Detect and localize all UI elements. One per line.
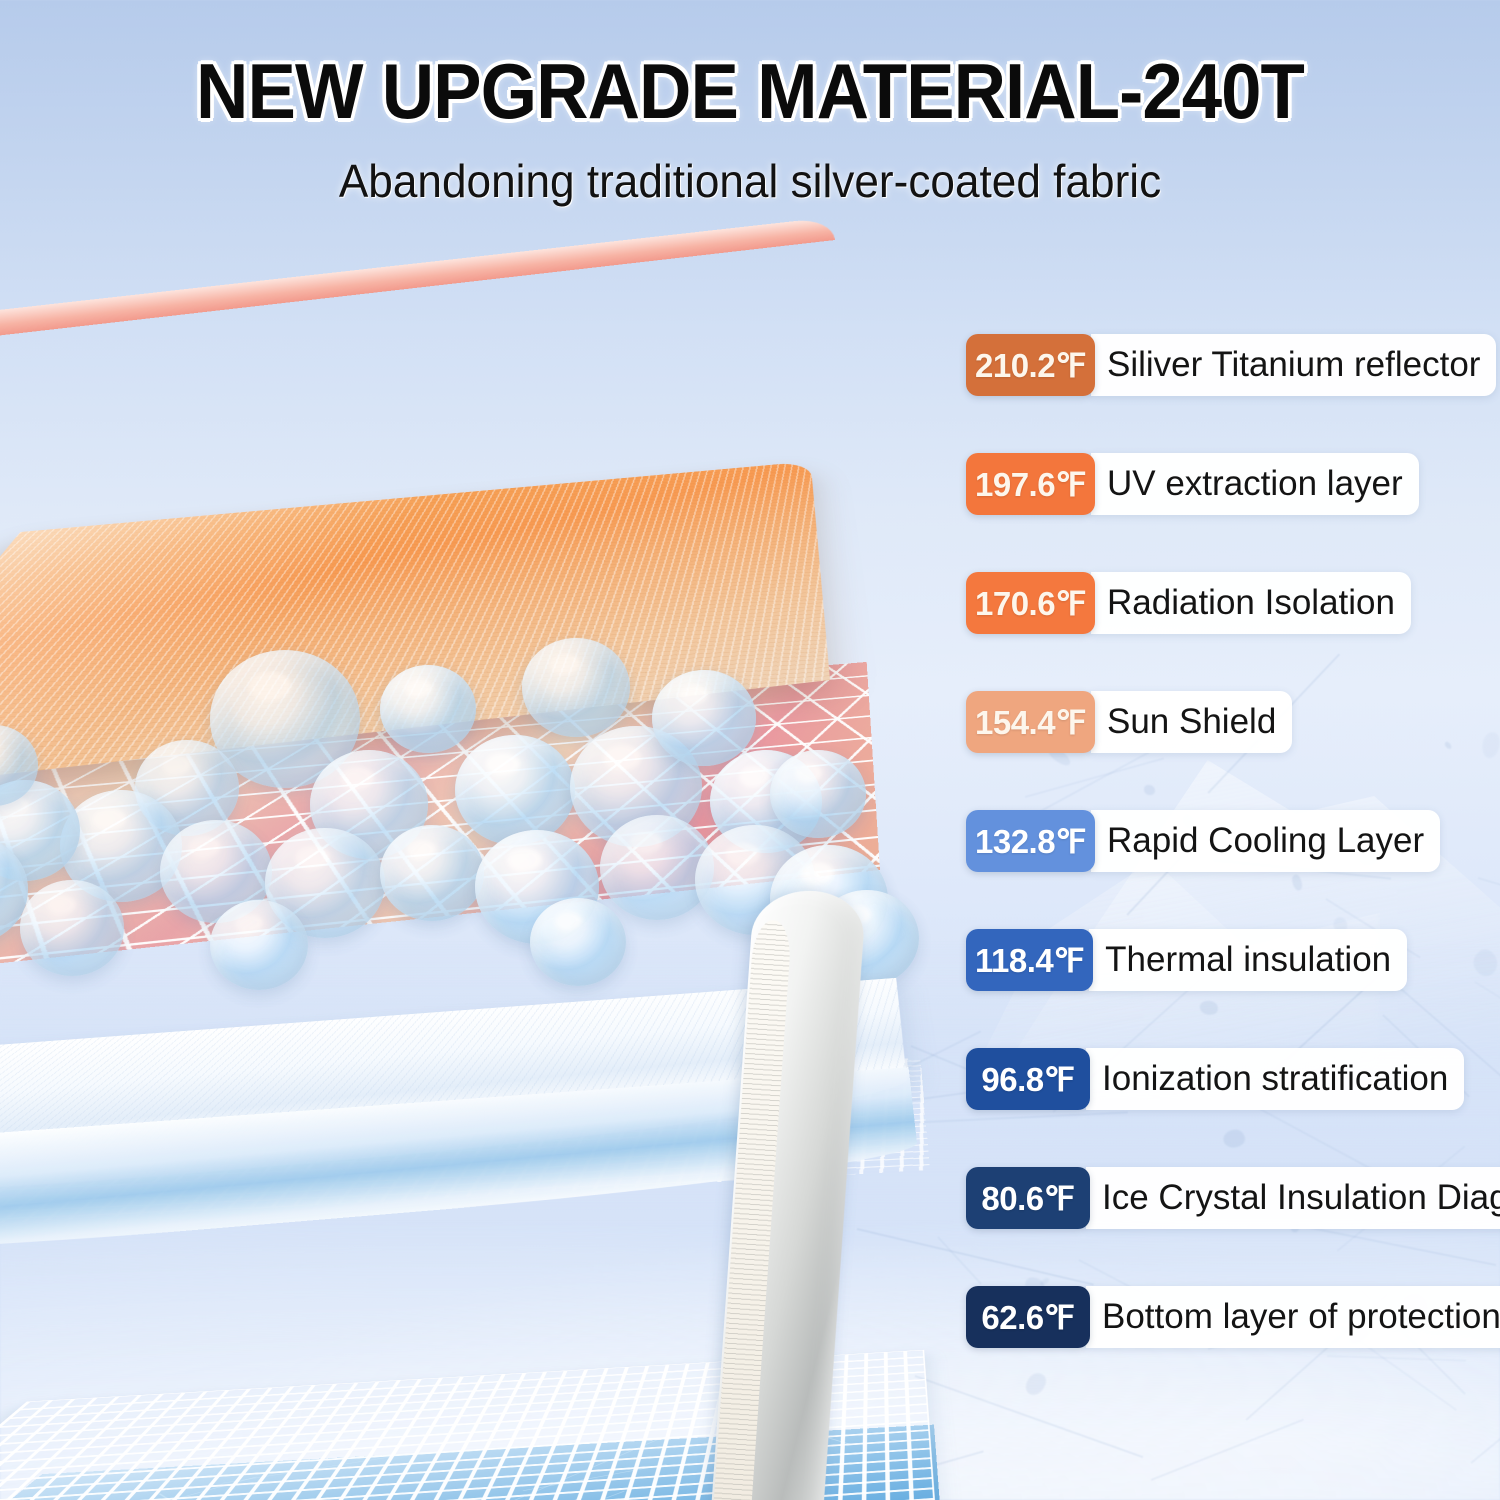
bubble <box>210 900 308 990</box>
bubble <box>455 735 575 845</box>
layer-label-row: 62.6℉Bottom layer of protection <box>966 1286 1500 1348</box>
page-title: NEW UPGRADE MATERIAL-240T <box>53 52 1448 130</box>
header: NEW UPGRADE MATERIAL-240T Abandoning tra… <box>0 0 1500 204</box>
bubble <box>522 638 630 737</box>
page-subtitle: Abandoning traditional silver-coated fab… <box>30 158 1470 204</box>
layer-label-row: 197.6℉UV extraction layer <box>966 453 1500 515</box>
layer-label-row: 154.4℉Sun Shield <box>966 691 1500 753</box>
orange-sheet-rim <box>0 217 835 358</box>
layer-name-label: Sun Shield <box>1091 691 1292 753</box>
bubble <box>770 750 866 838</box>
layer-label-row: 210.2℉Siliver Titanium reflector <box>966 334 1500 396</box>
temperature-badge: 80.6℉ <box>966 1167 1090 1229</box>
layer-label-list: 210.2℉Siliver Titanium reflector197.6℉UV… <box>966 334 1500 1405</box>
temperature-badge: 210.2℉ <box>966 334 1095 396</box>
layer-name-label: Ionization stratification <box>1086 1048 1464 1110</box>
temperature-badge: 154.4℉ <box>966 691 1095 753</box>
temperature-badge: 197.6℉ <box>966 453 1095 515</box>
temperature-badge: 118.4℉ <box>966 929 1093 991</box>
layer-name-label: Rapid Cooling Layer <box>1091 810 1440 872</box>
layer-label-row: 132.8℉Rapid Cooling Layer <box>966 810 1500 872</box>
temperature-badge: 170.6℉ <box>966 572 1095 634</box>
temperature-badge: 62.6℉ <box>966 1286 1090 1348</box>
bubble <box>652 670 756 766</box>
bubble <box>20 880 124 976</box>
layer-name-label: UV extraction layer <box>1091 453 1419 515</box>
layer-name-label: Ice Crystal Insulation Diagram <box>1086 1167 1500 1229</box>
layer-label-row: 170.6℉Radiation Isolation <box>966 572 1500 634</box>
temperature-badge: 132.8℉ <box>966 810 1095 872</box>
bubble-layer <box>0 630 870 1030</box>
layer-name-label: Siliver Titanium reflector <box>1091 334 1496 396</box>
bubble <box>530 898 626 986</box>
layer-name-label: Radiation Isolation <box>1091 572 1411 634</box>
bubble <box>380 665 476 753</box>
snow-crack <box>1151 1419 1304 1481</box>
temperature-badge: 96.8℉ <box>966 1048 1090 1110</box>
product-layer-diagram <box>0 200 980 1500</box>
layer-label-row: 118.4℉Thermal insulation <box>966 929 1500 991</box>
layer-name-label: Bottom layer of protection <box>1086 1286 1500 1348</box>
layer-name-label: Thermal insulation <box>1089 929 1407 991</box>
layer-label-row: 96.8℉Ionization stratification <box>966 1048 1500 1110</box>
layer-label-row: 80.6℉Ice Crystal Insulation Diagram <box>966 1167 1500 1229</box>
bubble <box>380 825 484 921</box>
